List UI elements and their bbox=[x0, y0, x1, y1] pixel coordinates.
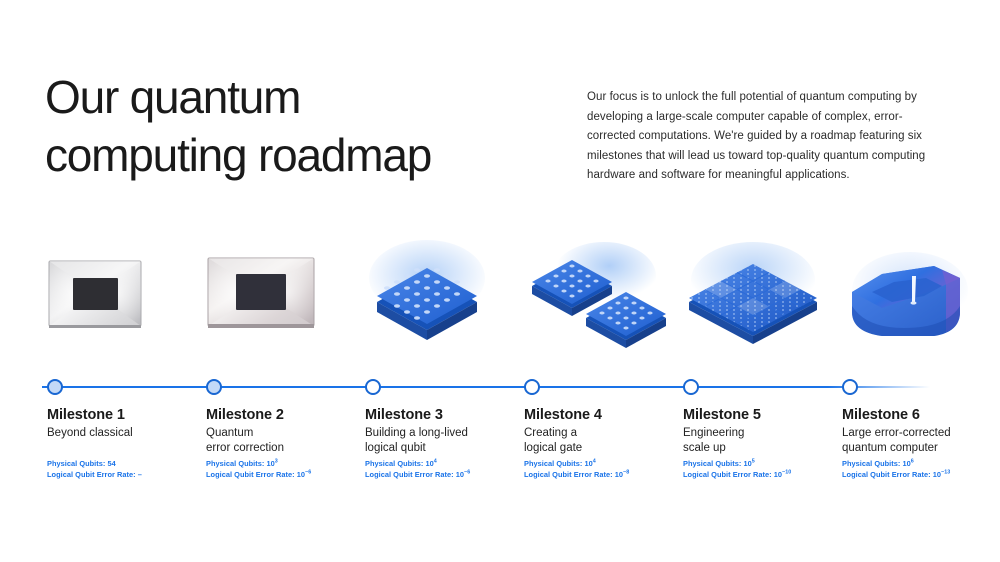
error-rate-value: – bbox=[138, 470, 142, 479]
milestone-column-2[interactable]: Milestone 2 Quantum error correction Phy… bbox=[206, 240, 365, 562]
milestone-title: Milestone 1 bbox=[47, 407, 125, 423]
cryostat-illustration bbox=[842, 240, 990, 358]
milestone-stats: Physical Qubits: 103 Logical Qubit Error… bbox=[206, 459, 362, 480]
physical-qubits-row: Physical Qubits: 105 bbox=[683, 459, 839, 470]
single-slab-illustration bbox=[365, 240, 513, 358]
milestone-title: Milestone 3 bbox=[365, 407, 443, 423]
error-rate-value: 10 bbox=[933, 470, 941, 479]
error-rate-exponent: −8 bbox=[623, 469, 629, 475]
physical-qubits-value: 10 bbox=[743, 459, 751, 468]
milestone-column-4[interactable]: Milestone 4 Creating a logical gate Phys… bbox=[524, 240, 683, 562]
error-rate-row: Logical Qubit Error Rate: 10−8 bbox=[524, 470, 680, 481]
error-rate-exponent: −6 bbox=[305, 469, 311, 475]
error-rate-row: Logical Qubit Error Rate: 10−13 bbox=[842, 470, 998, 481]
error-rate-row: Logical Qubit Error Rate: 10−6 bbox=[365, 470, 521, 481]
physical-qubits-value: 54 bbox=[107, 459, 115, 468]
error-rate-label: Logical Qubit Error Rate: bbox=[524, 470, 613, 479]
physical-qubits-value: 10 bbox=[266, 459, 274, 468]
physical-qubits-label: Physical Qubits: bbox=[524, 459, 582, 468]
warm-chip-illustration bbox=[206, 240, 354, 358]
error-rate-value: 10 bbox=[615, 470, 623, 479]
error-rate-value: 10 bbox=[456, 470, 464, 479]
tiled-array-illustration bbox=[683, 240, 831, 358]
milestone-stats: Physical Qubits: 104 Logical Qubit Error… bbox=[524, 459, 680, 480]
milestone-subtitle: Engineering scale up bbox=[683, 426, 833, 455]
milestone-column-6[interactable]: Milestone 6 Large error-corrected quantu… bbox=[842, 240, 1000, 562]
error-rate-row: Logical Qubit Error Rate: 10−6 bbox=[206, 470, 362, 481]
milestone-subtitle: Beyond classical bbox=[47, 426, 197, 441]
physical-qubits-exponent: 4 bbox=[434, 459, 437, 465]
milestone-stats: Physical Qubits: 106 Logical Qubit Error… bbox=[842, 459, 998, 480]
milestone-title: Milestone 5 bbox=[683, 407, 761, 423]
physical-qubits-row: Physical Qubits: 106 bbox=[842, 459, 998, 470]
error-rate-label: Logical Qubit Error Rate: bbox=[365, 470, 454, 479]
milestone-subtitle: Large error-corrected quantum computer bbox=[842, 426, 992, 455]
error-rate-exponent: −6 bbox=[464, 469, 470, 475]
header: Our quantum computing roadmap Our focus … bbox=[0, 0, 1000, 230]
milestone-subtitle: Quantum error correction bbox=[206, 426, 356, 455]
double-slab-illustration bbox=[524, 240, 672, 358]
error-rate-label: Logical Qubit Error Rate: bbox=[206, 470, 295, 479]
physical-qubits-row: Physical Qubits: 103 bbox=[206, 459, 362, 470]
physical-qubits-value: 10 bbox=[425, 459, 433, 468]
physical-qubits-value: 10 bbox=[902, 459, 910, 468]
physical-qubits-exponent: 5 bbox=[752, 459, 755, 465]
milestone-stats: Physical Qubits: 104 Logical Qubit Error… bbox=[365, 459, 521, 480]
milestone-section: Milestone 1 Beyond classical Physical Qu… bbox=[0, 240, 1000, 562]
error-rate-row: Logical Qubit Error Rate: – bbox=[47, 470, 203, 481]
physical-qubits-label: Physical Qubits: bbox=[683, 459, 741, 468]
milestone-title: Milestone 4 bbox=[524, 407, 602, 423]
physical-qubits-exponent: 3 bbox=[275, 459, 278, 465]
error-rate-value: 10 bbox=[297, 470, 305, 479]
error-rate-exponent: −10 bbox=[782, 469, 791, 475]
milestone-title: Milestone 6 bbox=[842, 407, 920, 423]
error-rate-label: Logical Qubit Error Rate: bbox=[683, 470, 772, 479]
milestone-subtitle: Building a long-lived logical qubit bbox=[365, 426, 515, 455]
physical-qubits-exponent: 4 bbox=[593, 459, 596, 465]
physical-qubits-label: Physical Qubits: bbox=[206, 459, 264, 468]
milestone-column-5[interactable]: Milestone 5 Engineering scale up Physica… bbox=[683, 240, 842, 562]
error-rate-value: 10 bbox=[774, 470, 782, 479]
milestone-column-3[interactable]: Milestone 3 Building a long-lived logica… bbox=[365, 240, 524, 562]
milestone-column-1[interactable]: Milestone 1 Beyond classical Physical Qu… bbox=[47, 240, 206, 562]
intro-paragraph: Our focus is to unlock the full potentia… bbox=[587, 88, 939, 186]
milestone-stats: Physical Qubits: 105 Logical Qubit Error… bbox=[683, 459, 839, 480]
physical-qubits-row: Physical Qubits: 104 bbox=[524, 459, 680, 470]
physical-qubits-row: Physical Qubits: 104 bbox=[365, 459, 521, 470]
physical-qubits-label: Physical Qubits: bbox=[365, 459, 423, 468]
physical-qubits-value: 10 bbox=[584, 459, 592, 468]
milestone-stats: Physical Qubits: 54 Logical Qubit Error … bbox=[47, 459, 203, 480]
page-title: Our quantum computing roadmap bbox=[45, 68, 575, 184]
physical-qubits-label: Physical Qubits: bbox=[47, 459, 105, 468]
error-rate-exponent: −13 bbox=[941, 469, 950, 475]
error-rate-label: Logical Qubit Error Rate: bbox=[842, 470, 931, 479]
physical-qubits-label: Physical Qubits: bbox=[842, 459, 900, 468]
error-rate-row: Logical Qubit Error Rate: 10−10 bbox=[683, 470, 839, 481]
milestone-subtitle: Creating a logical gate bbox=[524, 426, 674, 455]
physical-qubits-row: Physical Qubits: 54 bbox=[47, 459, 203, 470]
physical-qubits-exponent: 6 bbox=[911, 459, 914, 465]
grey-chip-illustration bbox=[47, 240, 195, 358]
milestone-title: Milestone 2 bbox=[206, 407, 284, 423]
error-rate-label: Logical Qubit Error Rate: bbox=[47, 470, 136, 479]
